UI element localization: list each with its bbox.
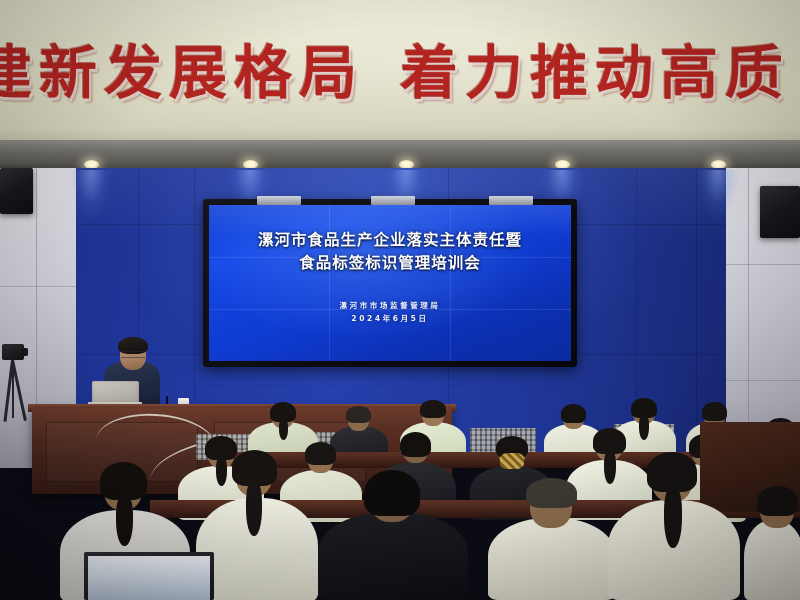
person-ponytail	[279, 418, 288, 440]
presenter-laptop-screen	[92, 381, 139, 404]
person-hair	[420, 400, 446, 418]
person-hair	[364, 470, 420, 516]
person-hair	[702, 402, 727, 421]
camera-lens-icon	[21, 348, 28, 356]
face-mask-icon	[500, 453, 524, 469]
person-hair	[346, 406, 371, 423]
wall-seam	[722, 380, 800, 381]
person-body	[744, 520, 800, 600]
tripod-leg	[12, 360, 14, 418]
person-hair	[400, 432, 431, 457]
slide-date: 2024年6月5日	[209, 312, 571, 325]
slide-organization: 漯河市市场监督管理局	[209, 299, 571, 312]
person-body	[318, 512, 468, 600]
audience-person	[608, 452, 740, 600]
audience-laptop-screen	[88, 556, 210, 600]
wall-seam	[722, 264, 800, 265]
banner-text-right: 着力推动高质	[400, 39, 790, 107]
wall-speaker-left	[0, 168, 33, 214]
slide-title-line2: 食品标签标识管理培训会	[209, 252, 571, 275]
led-video-wall: 漯河市食品生产企业落实主体责任暨 食品标签标识管理培训会 漯河市市场监督管理局 …	[203, 199, 577, 367]
wall-banner-slogan: 建新发展格局着力推动高质	[0, 42, 800, 104]
person-ponytail	[116, 494, 133, 546]
wall-speaker-right	[760, 186, 800, 238]
person-ponytail	[664, 486, 682, 548]
presentation-slide: 漯河市食品生产企业落实主体责任暨 食品标签标识管理培训会 漯河市市场监督管理局 …	[209, 205, 571, 361]
screen-mount-bracket	[257, 196, 301, 205]
conference-room-photo: 建新发展格局着力推动高质	[0, 0, 800, 600]
audience-person	[744, 486, 800, 600]
slide-title: 漯河市食品生产企业落实主体责任暨 食品标签标识管理培训会	[209, 229, 571, 275]
slide-subtitle: 漯河市市场监督管理局 2024年6月5日	[209, 299, 571, 325]
audience-person	[318, 470, 468, 600]
person-hair	[561, 404, 586, 423]
person-hair	[757, 486, 798, 516]
person-body	[488, 518, 616, 600]
glasses-icon	[121, 351, 145, 358]
wall-seam	[0, 286, 78, 287]
screen-mount-bracket	[371, 196, 415, 205]
screen-mount-bracket	[489, 196, 533, 205]
audience-person	[488, 478, 616, 600]
person-ponytail	[246, 480, 262, 536]
audience-person	[196, 450, 318, 600]
banner-text-left: 建新发展格局	[0, 39, 364, 107]
person-hair	[526, 478, 577, 508]
slide-title-line1: 漯河市食品生产企业落实主体责任暨	[209, 229, 571, 252]
